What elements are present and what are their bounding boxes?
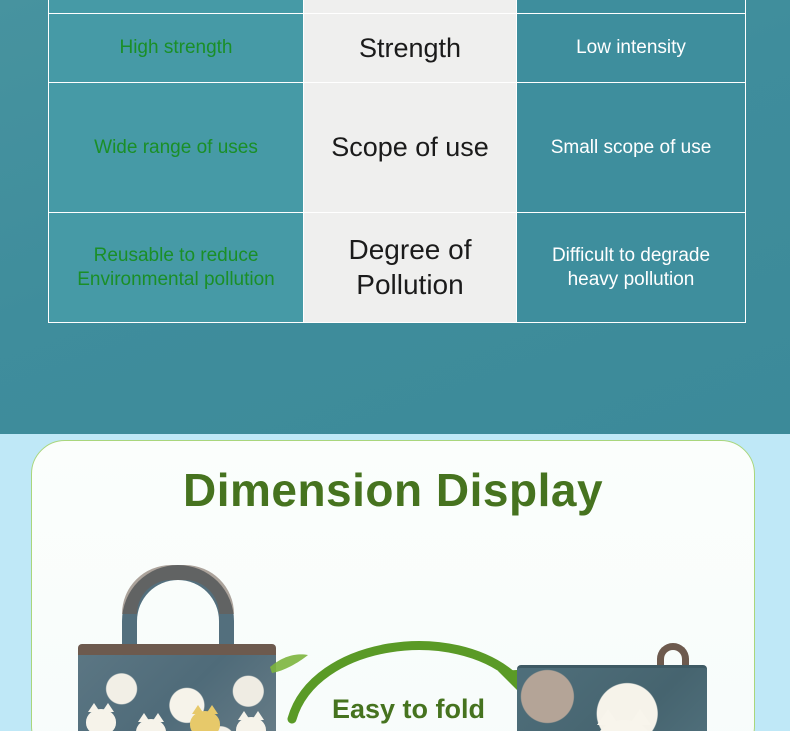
folded-bag-image: MEOW bbox=[517, 643, 717, 731]
dimension-display-card: Dimension Display Easy to fold bbox=[31, 440, 755, 731]
table-row-strength: High strength Strength Low intensity bbox=[49, 14, 746, 83]
cell-plastic-pollution-line1: Difficult to degrade bbox=[525, 244, 737, 267]
open-bag-image bbox=[70, 559, 285, 731]
product-detail-page: High strength Strength Low intensity Wid… bbox=[0, 0, 790, 731]
cat-print-icon bbox=[595, 720, 653, 731]
table-row-scope: Wide range of uses Scope of use Small sc… bbox=[49, 83, 746, 213]
cat-print-icon bbox=[86, 709, 116, 731]
cell-eco-scope: Wide range of uses bbox=[49, 83, 304, 213]
cell-plastic-scope: Small scope of use bbox=[517, 83, 746, 213]
cell-attribute-pollution-line2: Pollution bbox=[312, 268, 508, 302]
page-title: Dimension Display bbox=[32, 463, 754, 517]
cell-plastic-clipped bbox=[517, 0, 746, 14]
cat-print-icon bbox=[236, 717, 266, 731]
cell-plastic-strength: Low intensity bbox=[517, 14, 746, 83]
table-row bbox=[49, 0, 746, 14]
cat-print-icon bbox=[136, 719, 166, 731]
cell-eco-pollution-line2: Environmental pollution bbox=[57, 268, 295, 291]
cell-plastic-pollution-line2: heavy pollution bbox=[525, 268, 737, 291]
dimension-display-section: Dimension Display Easy to fold bbox=[0, 434, 790, 731]
cell-eco-pollution: Reusable to reduce Environmental polluti… bbox=[49, 213, 304, 323]
cell-eco-pollution-line1: Reusable to reduce bbox=[57, 244, 295, 267]
cell-attribute-clipped bbox=[304, 0, 517, 14]
bag-top-band bbox=[78, 644, 276, 655]
cat-print-icon bbox=[190, 711, 220, 731]
table-row-pollution: Reusable to reduce Environmental polluti… bbox=[49, 213, 746, 323]
pouch-body: MEOW bbox=[517, 665, 707, 731]
comparison-section: High strength Strength Low intensity Wid… bbox=[0, 0, 790, 434]
cell-attribute-pollution: Degree of Pollution bbox=[304, 213, 517, 323]
cell-attribute-pollution-line1: Degree of bbox=[312, 233, 508, 267]
cell-attribute-scope: Scope of use bbox=[304, 83, 517, 213]
easy-to-fold-label: Easy to fold bbox=[332, 694, 485, 725]
cell-attribute-strength: Strength bbox=[304, 14, 517, 83]
cell-plastic-pollution: Difficult to degrade heavy pollution bbox=[517, 213, 746, 323]
cell-eco-clipped bbox=[49, 0, 304, 14]
comparison-table: High strength Strength Low intensity Wid… bbox=[48, 0, 746, 323]
cell-eco-strength: High strength bbox=[49, 14, 304, 83]
